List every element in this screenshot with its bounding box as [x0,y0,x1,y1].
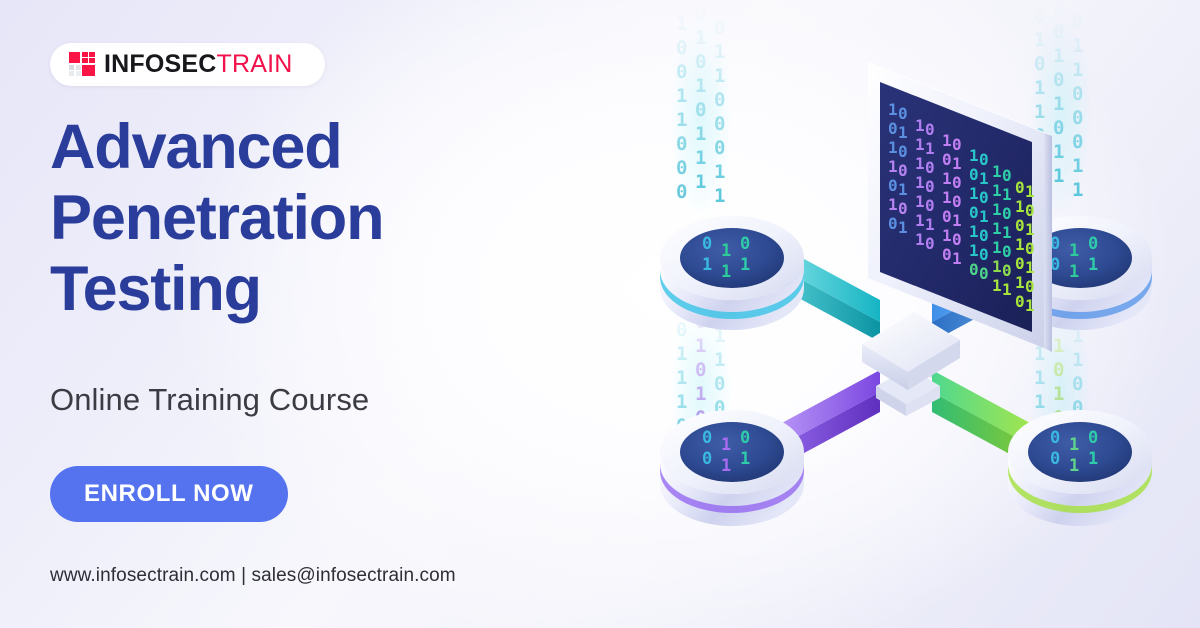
headline-line-2: Penetration [50,183,610,254]
svg-text:0: 0 [702,449,712,469]
svg-text:1: 1 [1034,29,1045,51]
svg-text:1: 1 [1072,349,1083,371]
svg-text:0: 0 [1002,242,1012,261]
svg-text:1: 1 [992,276,1002,295]
svg-text:1: 1 [1015,197,1025,216]
svg-text:0: 0 [714,89,725,111]
node-bottom-left[interactable]: 0 1 0 0 1 1 [660,410,804,526]
svg-text:0: 0 [969,260,979,279]
svg-text:0: 0 [676,157,687,179]
svg-text:0: 0 [1015,178,1025,197]
svg-text:1: 1 [888,138,898,157]
svg-text:1: 1 [898,218,908,237]
svg-text:0: 0 [952,173,962,192]
svg-text:1: 1 [676,367,687,389]
svg-text:0: 0 [1088,428,1098,448]
svg-text:0: 0 [898,142,908,161]
svg-text:1: 1 [695,75,706,97]
svg-text:1: 1 [952,249,962,268]
svg-text:0: 0 [888,214,898,233]
svg-text:1: 1 [721,262,731,282]
svg-text:1: 1 [888,195,898,214]
svg-text:1: 1 [695,147,706,169]
svg-text:0: 0 [1025,277,1035,296]
svg-text:1: 1 [1069,435,1079,455]
svg-text:0: 0 [952,192,962,211]
svg-text:1: 1 [969,146,979,165]
svg-text:1: 1 [1025,220,1035,239]
headline-line-3: Testing [50,254,610,325]
svg-text:1: 1 [915,135,925,154]
svg-text:0: 0 [695,51,706,73]
svg-text:0: 0 [1072,83,1083,105]
svg-text:1: 1 [676,343,687,365]
svg-text:1: 1 [969,184,979,203]
svg-text:1: 1 [714,41,725,63]
svg-text:1: 1 [1072,35,1083,57]
svg-text:0: 0 [1088,234,1098,254]
svg-text:0: 0 [925,158,935,177]
svg-text:0: 0 [925,196,935,215]
svg-text:1: 1 [942,226,952,245]
svg-text:1: 1 [1025,296,1035,315]
svg-text:1: 1 [952,211,962,230]
svg-text:1: 1 [952,154,962,173]
svg-text:1: 1 [1034,101,1045,123]
svg-text:1: 1 [714,161,725,183]
subtitle: Online Training Course [50,383,369,417]
svg-text:1: 1 [740,449,750,469]
svg-text:1: 1 [714,349,725,371]
svg-text:0: 0 [1072,373,1083,395]
svg-text:0: 0 [979,245,989,264]
svg-text:1: 1 [695,171,706,193]
svg-text:1: 1 [992,219,1002,238]
svg-text:1: 1 [1034,367,1045,389]
svg-text:1: 1 [1053,383,1064,405]
svg-text:1: 1 [915,230,925,249]
svg-text:1: 1 [915,116,925,135]
svg-text:0: 0 [702,428,712,448]
isometric-network-penetration-testing-illustration: 10 01 10 00 01 01 01 11 01 10 00 11 01 [640,0,1200,628]
headline-line-1: Advanced [50,112,610,183]
svg-text:0: 0 [898,199,908,218]
svg-text:0: 0 [898,104,908,123]
svg-text:0: 0 [1002,204,1012,223]
svg-text:0: 0 [979,264,989,283]
svg-text:0: 0 [695,3,706,25]
svg-text:1: 1 [992,162,1002,181]
svg-text:0: 0 [714,17,725,39]
svg-text:0: 0 [1034,53,1045,75]
brand-logo[interactable]: INFOSECTRAIN [50,43,325,86]
brand-wordmark-train: TRAIN [217,50,293,78]
svg-text:1: 1 [898,180,908,199]
svg-text:0: 0 [1002,261,1012,280]
svg-text:1: 1 [979,207,989,226]
svg-text:1: 1 [714,185,725,207]
svg-text:1: 1 [1002,185,1012,204]
svg-text:0: 0 [1015,254,1025,273]
svg-text:0: 0 [1053,117,1064,139]
svg-text:0: 0 [979,188,989,207]
svg-text:0: 0 [740,428,750,448]
svg-text:1: 1 [676,13,687,35]
svg-text:1: 1 [702,255,712,275]
svg-text:1: 1 [942,131,952,150]
svg-text:0: 0 [1053,0,1064,19]
node-bottom-right[interactable]: 0 1 0 0 1 1 [1008,410,1152,526]
svg-text:0: 0 [1025,239,1035,258]
svg-text:0: 0 [952,230,962,249]
infosectrain-grid-logo-icon [69,52,95,78]
svg-text:0: 0 [714,137,725,159]
contact-info: www.infosectrain.com | sales@infosectrai… [50,565,456,587]
svg-text:1: 1 [721,241,731,261]
svg-text:0: 0 [1015,216,1025,235]
svg-text:1: 1 [695,123,706,145]
svg-text:1: 1 [942,169,952,188]
svg-text:1: 1 [925,215,935,234]
node-top-left[interactable]: 0 1 0 1 1 1 [660,216,804,330]
svg-text:1: 1 [888,100,898,119]
svg-text:1: 1 [969,222,979,241]
svg-text:0: 0 [714,373,725,395]
promo-banner: INFOSECTRAIN Advanced Penetration Testin… [0,0,1200,628]
svg-text:1: 1 [695,383,706,405]
svg-text:1: 1 [915,192,925,211]
svg-text:1: 1 [992,200,1002,219]
svg-text:1: 1 [1025,258,1035,277]
svg-text:1: 1 [721,456,731,476]
svg-text:0: 0 [925,177,935,196]
svg-text:1: 1 [676,85,687,107]
svg-text:1: 1 [740,255,750,275]
svg-text:1: 1 [1069,241,1079,261]
svg-text:0: 0 [1034,5,1045,27]
svg-text:0: 0 [1015,292,1025,311]
svg-text:1: 1 [721,435,731,455]
svg-text:1: 1 [1002,280,1012,299]
svg-text:0: 0 [969,165,979,184]
svg-text:1: 1 [1015,273,1025,292]
svg-text:0: 0 [676,61,687,83]
svg-text:1: 1 [1088,449,1098,469]
svg-text:1: 1 [915,154,925,173]
page-title: Advanced Penetration Testing [50,112,610,326]
enroll-now-button[interactable]: ENROLL NOW [50,466,288,522]
svg-text:0: 0 [979,226,989,245]
svg-text:1: 1 [888,157,898,176]
svg-text:0: 0 [888,176,898,195]
svg-text:0: 0 [1053,359,1064,381]
svg-text:1: 1 [1072,155,1083,177]
svg-text:0: 0 [695,359,706,381]
svg-text:1: 1 [1053,335,1064,357]
svg-text:0: 0 [1025,201,1035,220]
svg-text:0: 0 [898,161,908,180]
svg-text:1: 1 [915,211,925,230]
svg-text:1: 1 [979,169,989,188]
binary-rain-top-left: 10 01 10 00 01 01 01 11 01 10 00 11 [670,3,732,218]
svg-text:0: 0 [740,234,750,254]
svg-text:1: 1 [898,123,908,142]
svg-text:0: 0 [695,99,706,121]
svg-text:1: 1 [1088,255,1098,275]
svg-text:0: 0 [1072,107,1083,129]
svg-text:0: 0 [942,150,952,169]
svg-text:0: 0 [1050,449,1060,469]
svg-text:1: 1 [992,257,1002,276]
svg-text:1: 1 [992,181,1002,200]
svg-text:0: 0 [1072,131,1083,153]
svg-text:1: 1 [676,391,687,413]
svg-text:0: 0 [925,234,935,253]
svg-text:1: 1 [1034,77,1045,99]
svg-text:1: 1 [676,109,687,131]
brand-wordmark: INFOSECTRAIN [104,52,293,77]
svg-text:0: 0 [1053,69,1064,91]
svg-text:1: 1 [695,27,706,49]
svg-text:1: 1 [942,188,952,207]
svg-text:0: 0 [952,135,962,154]
svg-text:0: 0 [979,150,989,169]
svg-text:0: 0 [888,119,898,138]
svg-text:1: 1 [992,238,1002,257]
svg-text:0: 0 [969,203,979,222]
svg-text:1: 1 [1053,141,1064,163]
svg-text:1: 1 [1072,179,1083,201]
svg-text:1: 1 [1015,235,1025,254]
svg-text:1: 1 [969,241,979,260]
svg-text:0: 0 [714,113,725,135]
svg-text:0: 0 [1050,428,1060,448]
svg-text:1: 1 [695,335,706,357]
svg-text:0: 0 [702,234,712,254]
banner-text-panel: INFOSECTRAIN Advanced Penetration Testin… [0,0,640,628]
svg-text:0: 0 [1053,21,1064,43]
svg-text:0: 0 [676,181,687,203]
svg-text:1: 1 [1053,93,1064,115]
svg-text:1: 1 [1002,223,1012,242]
svg-text:1: 1 [1072,59,1083,81]
svg-text:1: 1 [714,65,725,87]
svg-text:1: 1 [1069,262,1079,282]
svg-text:1: 1 [1053,45,1064,67]
svg-text:0: 0 [1072,11,1083,33]
svg-text:0: 0 [942,207,952,226]
svg-text:0: 0 [1002,166,1012,185]
svg-text:0: 0 [942,245,952,264]
svg-text:0: 0 [676,37,687,59]
svg-text:1: 1 [915,173,925,192]
svg-text:1: 1 [1034,391,1045,413]
svg-text:1: 1 [925,139,935,158]
svg-text:0: 0 [676,319,687,341]
svg-text:1: 1 [1069,456,1079,476]
svg-text:0: 0 [676,133,687,155]
svg-text:1: 1 [1025,182,1035,201]
svg-text:1: 1 [1053,165,1064,187]
brand-wordmark-infosec: INFOSEC [104,50,217,78]
svg-text:0: 0 [925,120,935,139]
